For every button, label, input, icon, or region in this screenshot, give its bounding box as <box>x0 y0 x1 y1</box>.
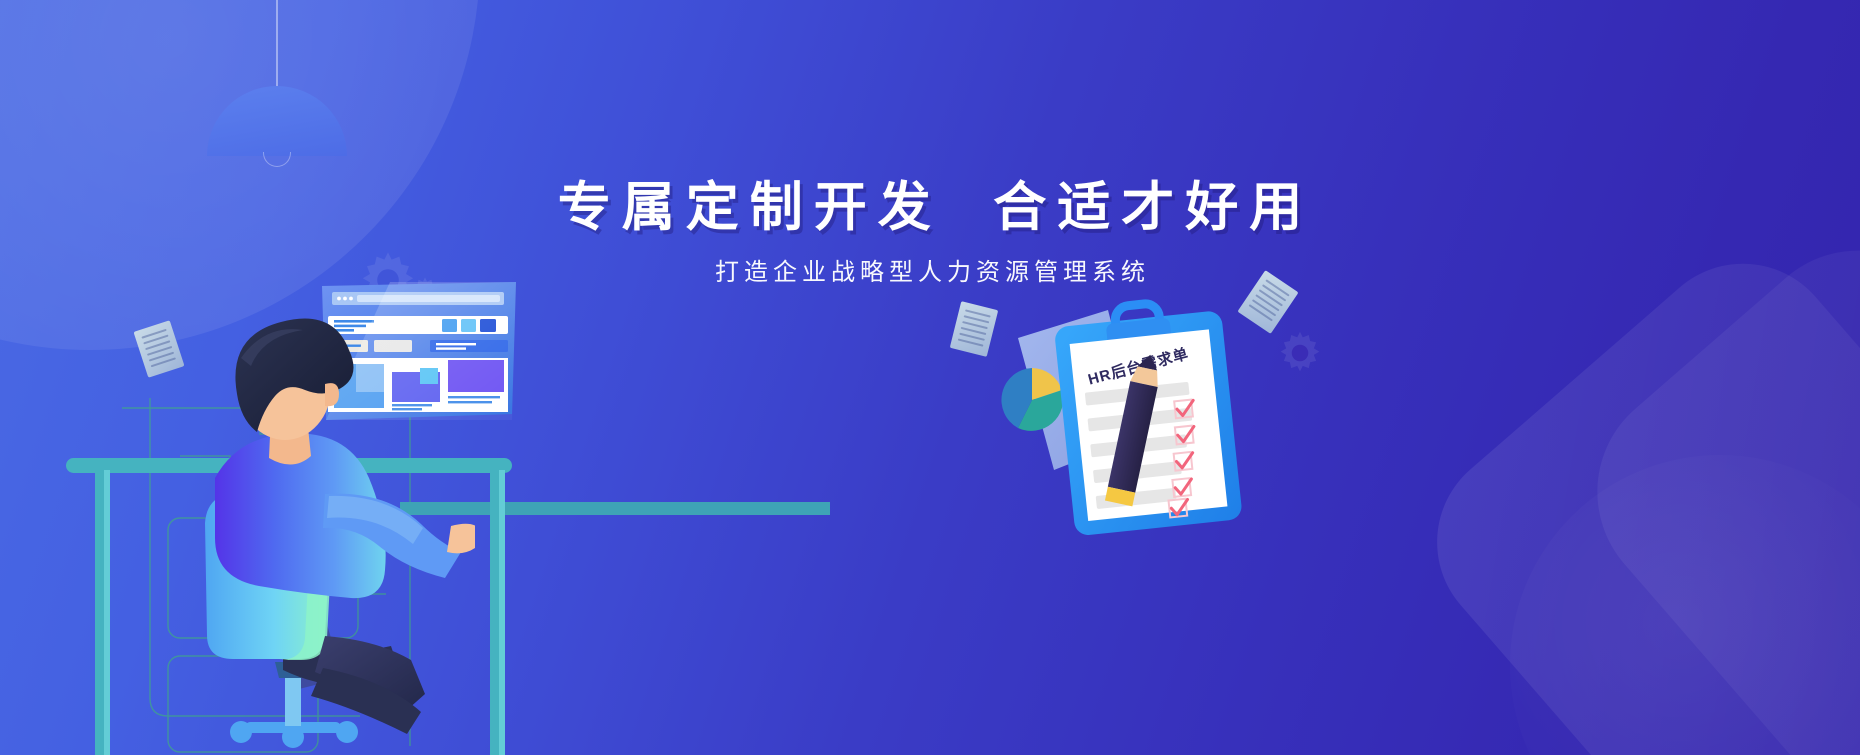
lamp-shade <box>207 86 347 156</box>
desk-leg-left <box>95 470 110 755</box>
clipboard-scene: HR后台需求单 <box>1000 290 1300 535</box>
hero-banner: HR后台需求单 <box>0 0 1860 755</box>
desk-leg-right <box>490 470 505 755</box>
lamp-cord <box>276 0 278 88</box>
seated-person-illustration <box>175 318 475 755</box>
floating-paper-center <box>950 301 998 357</box>
paper-lines <box>950 301 998 357</box>
pendant-lamp-icon <box>207 0 347 172</box>
lamp-bulb <box>263 152 291 167</box>
